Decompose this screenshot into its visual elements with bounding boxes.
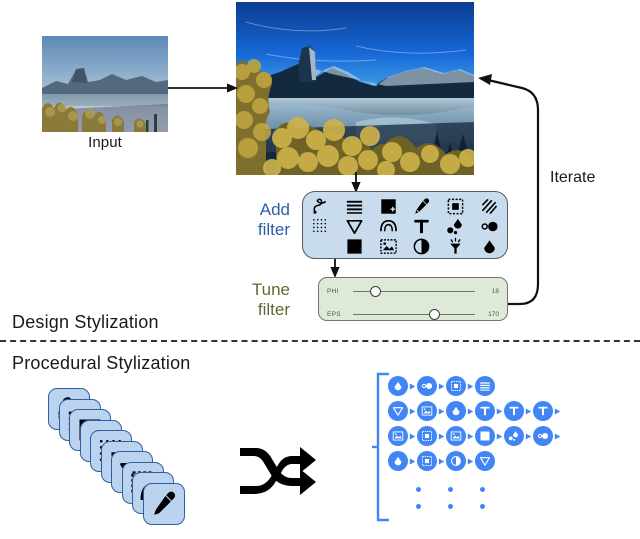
arrow-palette-to-slider <box>328 257 342 279</box>
filter-node[interactable] <box>417 376 437 396</box>
droplet-icon[interactable] <box>480 237 499 256</box>
slider-track-eps[interactable] <box>353 309 475 321</box>
filter-node[interactable] <box>388 401 408 421</box>
filter-chain-row <box>388 425 562 447</box>
triangle-down-icon[interactable] <box>345 217 364 236</box>
random-filter-chain-grid[interactable] <box>388 375 638 525</box>
ellipsis-dot <box>416 504 421 509</box>
lines-icon[interactable] <box>345 197 364 216</box>
chain-arrow-icon <box>437 376 446 396</box>
add-filter-label-line1: Add <box>210 200 290 220</box>
text-icon[interactable] <box>412 217 431 236</box>
text-T-icon <box>537 405 549 417</box>
chain-arrow-icon <box>408 376 417 396</box>
chain-arrow-icon <box>553 426 562 446</box>
filter-node[interactable] <box>475 426 495 446</box>
filter-node[interactable] <box>475 401 495 421</box>
squiggle-icon[interactable] <box>311 197 330 216</box>
shuffle-icon <box>238 432 320 502</box>
ellipsis-dot <box>448 487 453 492</box>
image-frame-icon[interactable] <box>379 237 398 256</box>
tune-filter-label-line2: filter <box>210 300 290 320</box>
dot-grid-icon[interactable] <box>311 217 330 236</box>
chain-arrow-icon <box>495 401 504 421</box>
circles-icon[interactable] <box>480 217 499 236</box>
triangle-down-icon <box>392 405 404 417</box>
crop-frame-icon <box>421 430 433 442</box>
filter-card[interactable] <box>143 483 185 525</box>
crop-frame-icon <box>421 455 433 467</box>
filter-node[interactable] <box>475 376 495 396</box>
chain-arrow-icon <box>524 426 533 446</box>
slider-label-eps: EPS <box>327 311 353 318</box>
stylized-output-image <box>236 2 474 175</box>
tune-filter-label-line1: Tune <box>210 280 290 300</box>
droplet-icon <box>392 455 404 467</box>
filter-node[interactable] <box>446 451 466 471</box>
exposure-icon[interactable] <box>345 237 364 256</box>
slider-value-eps: 170 <box>475 311 499 318</box>
triangle-down-icon <box>479 455 491 467</box>
filter-node[interactable] <box>417 426 437 446</box>
filter-node[interactable] <box>388 451 408 471</box>
chain-arrow-icon <box>437 426 446 446</box>
section-divider <box>0 340 640 342</box>
palette-row-1 <box>311 196 499 216</box>
slider-knob-eps[interactable] <box>429 309 440 320</box>
ellipsis-dots-row <box>416 487 512 492</box>
arch-icon[interactable] <box>379 217 398 236</box>
chain-arrow-icon <box>408 426 417 446</box>
filter-node[interactable] <box>446 376 466 396</box>
procedural-stylization-title: Procedural Stylization <box>12 353 191 374</box>
arrow-input-to-output <box>168 78 240 98</box>
crop-frame-icon[interactable] <box>446 197 465 216</box>
lines-icon <box>479 380 491 392</box>
droplet-icon <box>392 380 404 392</box>
filter-node[interactable] <box>533 426 553 446</box>
chain-arrow-icon <box>553 401 562 421</box>
funnel-icon[interactable] <box>446 237 465 256</box>
procedural-filter-card-stack[interactable] <box>48 388 188 536</box>
chain-arrow-icon <box>495 426 504 446</box>
ellipsis-dots-row <box>416 504 512 509</box>
filter-node[interactable] <box>504 426 524 446</box>
slider-row-phi[interactable]: PHI 16 <box>327 283 499 300</box>
input-image <box>42 36 168 132</box>
chain-arrow-icon <box>408 401 417 421</box>
droplets-icon[interactable] <box>446 217 465 236</box>
filter-node[interactable] <box>388 376 408 396</box>
add-filter-label-line2: filter <box>210 220 290 240</box>
filter-node[interactable] <box>533 401 553 421</box>
eyedropper-icon <box>150 490 178 518</box>
hatch-icon[interactable] <box>480 197 499 216</box>
droplets-icon <box>508 430 520 442</box>
contrast-icon[interactable] <box>412 237 431 256</box>
filter-node[interactable] <box>475 451 495 471</box>
design-stylization-title: Design Stylization <box>12 312 159 333</box>
filter-node[interactable] <box>504 401 524 421</box>
chain-arrow-icon <box>408 451 417 471</box>
filter-node[interactable] <box>417 401 437 421</box>
ellipsis-dot <box>448 504 453 509</box>
slider-knob-phi[interactable] <box>370 286 381 297</box>
palette-row-2 <box>311 216 499 236</box>
crop-frame-icon <box>450 380 462 392</box>
ellipsis-dot <box>480 487 485 492</box>
exposure-icon[interactable] <box>379 197 398 216</box>
ellipsis-dot <box>416 487 421 492</box>
ellipsis-dot <box>480 504 485 509</box>
chain-arrow-icon <box>466 376 475 396</box>
droplet-icon <box>450 405 462 417</box>
slider-bar-eps <box>353 314 475 316</box>
image-frame-icon <box>392 430 404 442</box>
circles-icon <box>421 380 433 392</box>
filter-chain-row <box>388 450 495 472</box>
slider-track-phi[interactable] <box>353 286 475 298</box>
image-frame-icon <box>421 405 433 417</box>
add-filter-label: Add filter <box>210 200 290 240</box>
chain-arrow-icon <box>466 426 475 446</box>
slider-label-phi: PHI <box>327 288 353 295</box>
chain-arrow-icon <box>437 401 446 421</box>
filter-node[interactable] <box>417 451 437 471</box>
text-T-icon <box>508 405 520 417</box>
iterate-label: Iterate <box>550 168 595 188</box>
chain-arrow-icon <box>524 401 533 421</box>
slider-row-eps[interactable]: EPS 170 <box>327 306 499 323</box>
chain-arrow-icon <box>466 401 475 421</box>
add-filter-palette[interactable] <box>302 191 508 259</box>
palette-row3-spacer <box>311 237 330 256</box>
chain-arrow-icon <box>437 451 446 471</box>
tune-filter-label: Tune filter <box>210 280 290 320</box>
input-caption: Input <box>42 134 168 151</box>
contrast-icon <box>450 455 462 467</box>
iterate-loop-arrow <box>470 70 550 310</box>
filter-node[interactable] <box>388 426 408 446</box>
text-T-icon <box>479 405 491 417</box>
circles-icon <box>537 430 549 442</box>
filter-chain-row <box>388 400 562 422</box>
slider-value-phi: 16 <box>475 288 499 295</box>
eyedropper-icon[interactable] <box>412 197 431 216</box>
filter-chain-row <box>388 375 495 397</box>
tune-filter-panel[interactable]: PHI 16 EPS 170 <box>318 277 508 321</box>
filter-node[interactable] <box>446 401 466 421</box>
chain-arrow-icon <box>466 451 475 471</box>
palette-row-3 <box>311 236 499 256</box>
exposure-icon <box>479 430 491 442</box>
image-frame-icon <box>450 430 462 442</box>
filter-node[interactable] <box>446 426 466 446</box>
